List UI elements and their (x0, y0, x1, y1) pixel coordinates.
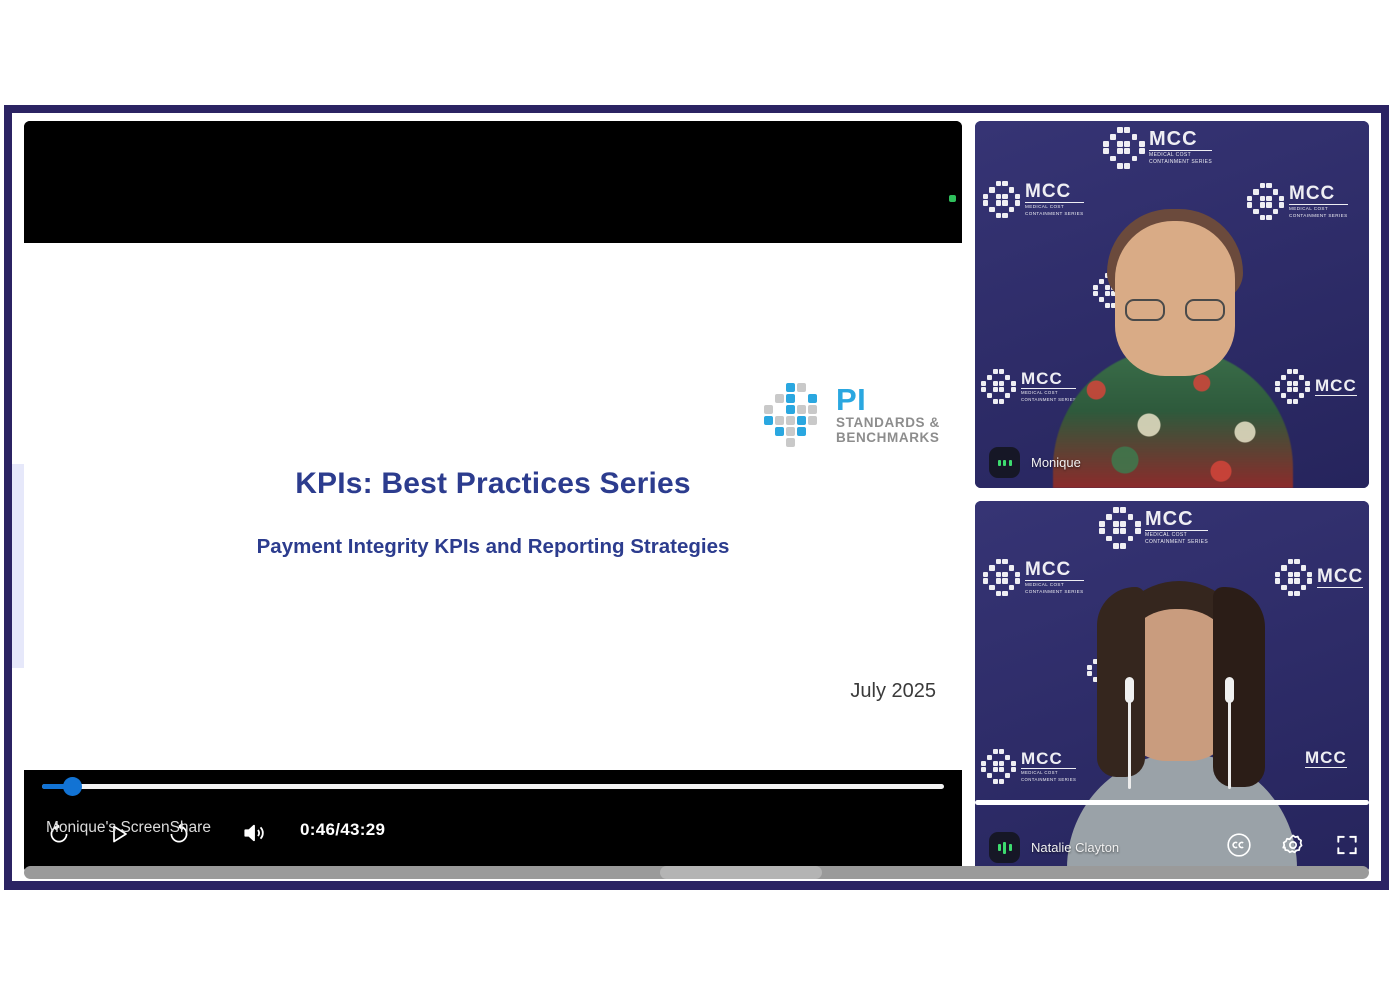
participant-tile-monique[interactable]: MCC MEDICAL COST CONTAINMENT SERIES MCC … (975, 121, 1369, 488)
participant-name-badge: Monique (989, 447, 1081, 478)
mcc-wordmark: MCC MEDICAL COST CONTAINMENT SERIES (1021, 370, 1076, 402)
bg-mcc-logo: MCC MEDICAL COST CONTAINMENT SERIES (983, 181, 1084, 217)
fullscreen-icon[interactable] (1333, 831, 1361, 859)
people-panel-progress-bar[interactable] (975, 800, 1369, 805)
player-control-bar[interactable]: Monique's ScreenShare 0:46/43:29 (24, 770, 962, 873)
mcc-wordmark: MCC MEDICAL COST CONTAINMENT SERIES (1025, 560, 1084, 594)
gear-icon[interactable] (1279, 831, 1307, 859)
mcc-wordmark: MCC MEDICAL COST CONTAINMENT SERIES (1289, 184, 1348, 218)
mcc-logo-sub-line2: CONTAINMENT SERIES (1025, 212, 1084, 217)
participant-tile-natalie-clayton[interactable]: MCC MEDICAL COST CONTAINMENT SERIES MCC … (975, 501, 1369, 873)
mcc-logo-name: MCC (1289, 184, 1348, 205)
bg-mcc-logo: MCC (1275, 559, 1363, 595)
mcc-cross-icon (981, 749, 1015, 783)
mcc-cross-icon (1275, 559, 1311, 595)
bg-mcc-logo: MCC (1275, 369, 1357, 403)
playback-time-display: 0:46/43:29 (300, 820, 385, 840)
mic-level-icon (989, 447, 1020, 478)
mcc-logo-name: MCC (1317, 567, 1363, 588)
mcc-logo-sub-line2: CONTAINMENT SERIES (1021, 398, 1076, 402)
pi-logo-text: PI STANDARDS & BENCHMARKS (836, 383, 940, 446)
bg-mcc-logo: MCC MEDICAL COST CONTAINMENT SERIES (1099, 507, 1208, 547)
playback-scrubber[interactable] (42, 784, 944, 789)
mcc-cross-icon (1275, 369, 1309, 403)
mcc-logo-name: MCC (1025, 182, 1084, 203)
mcc-wordmark: MCC (1317, 567, 1363, 588)
playback-scrubber-handle[interactable] (63, 777, 82, 796)
screenshare-panel[interactable]: PI STANDARDS & BENCHMARKS KPIs: Best Pra… (24, 121, 962, 873)
slide-title: KPIs: Best Practices Series (24, 467, 962, 501)
mcc-logo-sub-line1: MEDICAL COST (1021, 391, 1076, 395)
mcc-wordmark: MCC (1315, 377, 1357, 396)
pi-logo-line1: STANDARDS & (836, 416, 940, 431)
slide-date: July 2025 (850, 680, 936, 703)
mcc-logo-name: MCC (1149, 129, 1212, 151)
bg-mcc-logo: MCC MEDICAL COST CONTAINMENT SERIES (981, 749, 1076, 783)
mcc-logo-sub-line1: MEDICAL COST (1145, 533, 1208, 538)
pi-logo-name: PI (836, 383, 940, 416)
screenshare-letterbox-top (24, 121, 962, 243)
earbud-wire-left (1128, 699, 1131, 789)
mcc-logo-sub-line2: CONTAINMENT SERIES (1021, 778, 1076, 782)
pi-logo-line2: BENCHMARKS (836, 431, 940, 446)
closed-captions-icon[interactable] (1225, 831, 1253, 859)
earbud-wire-right (1228, 699, 1231, 789)
mic-level-icon (989, 832, 1020, 863)
mcc-logo-name: MCC (1021, 370, 1076, 389)
mcc-cross-icon (1099, 507, 1139, 547)
mcc-logo-sub-line2: CONTAINMENT SERIES (1149, 160, 1212, 165)
mcc-logo-sub-line1: MEDICAL COST (1025, 205, 1084, 210)
participant-glasses (1125, 299, 1225, 321)
bg-mcc-logo: MCC MEDICAL COST CONTAINMENT SERIES (981, 369, 1076, 403)
mcc-logo-name: MCC (1305, 749, 1347, 768)
mcc-logo-sub-line2: CONTAINMENT SERIES (1145, 540, 1208, 545)
mcc-cross-icon (1247, 183, 1283, 219)
mcc-logo-sub-line1: MEDICAL COST (1021, 771, 1076, 775)
presentation-slide: PI STANDARDS & BENCHMARKS KPIs: Best Pra… (24, 243, 962, 838)
mcc-wordmark: MCC MEDICAL COST CONTAINMENT SERIES (1021, 750, 1076, 782)
mcc-logo-sub-line1: MEDICAL COST (1289, 207, 1348, 212)
bg-mcc-logo: MCC (1305, 749, 1347, 768)
mcc-cross-icon (1103, 127, 1143, 167)
recording-dot-icon (949, 195, 956, 202)
mcc-logo-sub-line1: MEDICAL COST (1149, 153, 1212, 158)
slide-subtitle: Payment Integrity KPIs and Reporting Str… (24, 535, 962, 559)
pi-cross-icon (764, 383, 826, 445)
mcc-wordmark: MCC MEDICAL COST CONTAINMENT SERIES (1145, 509, 1208, 545)
horizontal-scrollbar[interactable] (24, 866, 1369, 879)
mcc-wordmark: MCC (1305, 749, 1347, 768)
mcc-cross-icon (983, 559, 1019, 595)
bg-mcc-logo: MCC MEDICAL COST CONTAINMENT SERIES (1247, 183, 1348, 219)
mcc-logo-name: MCC (1315, 377, 1357, 396)
volume-icon[interactable] (240, 820, 268, 846)
mcc-logo-name: MCC (1145, 509, 1208, 531)
mcc-logo-sub-line2: CONTAINMENT SERIES (1289, 214, 1348, 219)
mcc-logo-sub-line1: MEDICAL COST (1025, 583, 1084, 588)
mcc-cross-icon (983, 181, 1019, 217)
bg-mcc-logo: MCC MEDICAL COST CONTAINMENT SERIES (983, 559, 1084, 595)
screenshare-label: Monique's ScreenShare (46, 819, 211, 837)
pi-standards-logo: PI STANDARDS & BENCHMARKS (764, 383, 940, 446)
mcc-logo-name: MCC (1021, 750, 1076, 769)
mcc-wordmark: MCC MEDICAL COST CONTAINMENT SERIES (1149, 129, 1212, 165)
mcc-wordmark: MCC MEDICAL COST CONTAINMENT SERIES (1025, 182, 1084, 216)
participant-name-badge: Natalie Clayton (989, 832, 1119, 863)
participant-hair-left (1097, 587, 1145, 777)
people-panel-controls[interactable] (1225, 831, 1361, 859)
participants-column: MCC MEDICAL COST CONTAINMENT SERIES MCC … (975, 121, 1369, 873)
participant-name: Monique (1031, 455, 1081, 470)
mcc-logo-sub-line2: CONTAINMENT SERIES (1025, 590, 1084, 595)
scrollbar-thumb[interactable] (660, 866, 822, 879)
bg-mcc-logo: MCC MEDICAL COST CONTAINMENT SERIES (1103, 127, 1212, 167)
participant-name: Natalie Clayton (1031, 840, 1119, 855)
mcc-cross-icon (981, 369, 1015, 403)
mcc-logo-name: MCC (1025, 560, 1084, 581)
participant-hair-right (1213, 587, 1265, 787)
